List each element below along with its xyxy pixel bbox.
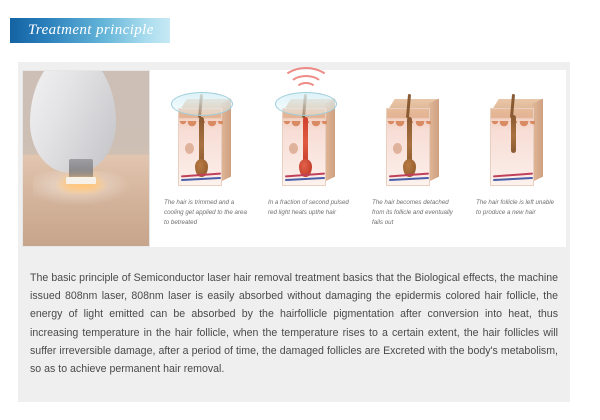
content-panel: The hair is trimmed and a cooling get ap…	[18, 62, 570, 402]
step-caption: The hair is trimmed and a cooling get ap…	[150, 198, 254, 228]
skin-diagram-3-icon	[374, 82, 446, 200]
treatment-photo	[22, 70, 150, 247]
skin-diagram-4-icon	[478, 82, 550, 200]
description-paragraph: The basic principle of Semiconductor las…	[30, 269, 558, 378]
step-4: The hair follicle is left unable to prod…	[462, 70, 566, 247]
vein-icon	[389, 177, 429, 181]
step-2: In a fraction of second pulsed red light…	[254, 70, 358, 247]
vein-icon	[181, 177, 221, 181]
cooling-gel-icon	[171, 92, 233, 116]
skin-block	[490, 108, 534, 186]
media-panel: The hair is trimmed and a cooling get ap…	[22, 70, 566, 247]
skin-diagram-1-icon	[166, 82, 238, 200]
step-caption: The hair follicle is left unable to prod…	[462, 198, 566, 218]
vein-icon	[285, 177, 325, 181]
banner-gradient: Treatment principle	[10, 18, 170, 43]
vein-icon	[493, 177, 533, 181]
handpiece-tip-icon	[66, 177, 96, 184]
cooling-gel-icon	[275, 92, 337, 116]
diagram-strip: The hair is trimmed and a cooling get ap…	[150, 70, 566, 247]
step-3: The hair becomes detached from its folli…	[358, 70, 462, 247]
skin-front-face	[282, 108, 326, 186]
step-caption: The hair becomes detached from its folli…	[358, 198, 462, 228]
laser-pulse-waves-icon	[278, 66, 334, 92]
step-caption: In a fraction of second pulsed red light…	[254, 198, 358, 218]
skin-block	[178, 108, 222, 186]
page-title: Treatment principle	[10, 22, 154, 39]
skin-block	[282, 108, 326, 186]
handpiece-body-icon	[30, 70, 116, 173]
section-banner: Treatment principle	[10, 18, 170, 43]
sebaceous-gland-icon	[289, 143, 298, 154]
sebaceous-gland-icon	[185, 143, 194, 154]
empty-follicle-icon	[511, 115, 516, 153]
step-1: The hair is trimmed and a cooling get ap…	[150, 70, 254, 247]
skin-block	[386, 108, 430, 186]
page-root: Treatment principle	[0, 0, 600, 420]
skin-front-face	[178, 108, 222, 186]
sebaceous-gland-icon	[393, 143, 402, 154]
skin-front-face	[490, 108, 534, 186]
skin-front-face	[386, 108, 430, 186]
skin-diagram-2-icon	[270, 82, 342, 200]
